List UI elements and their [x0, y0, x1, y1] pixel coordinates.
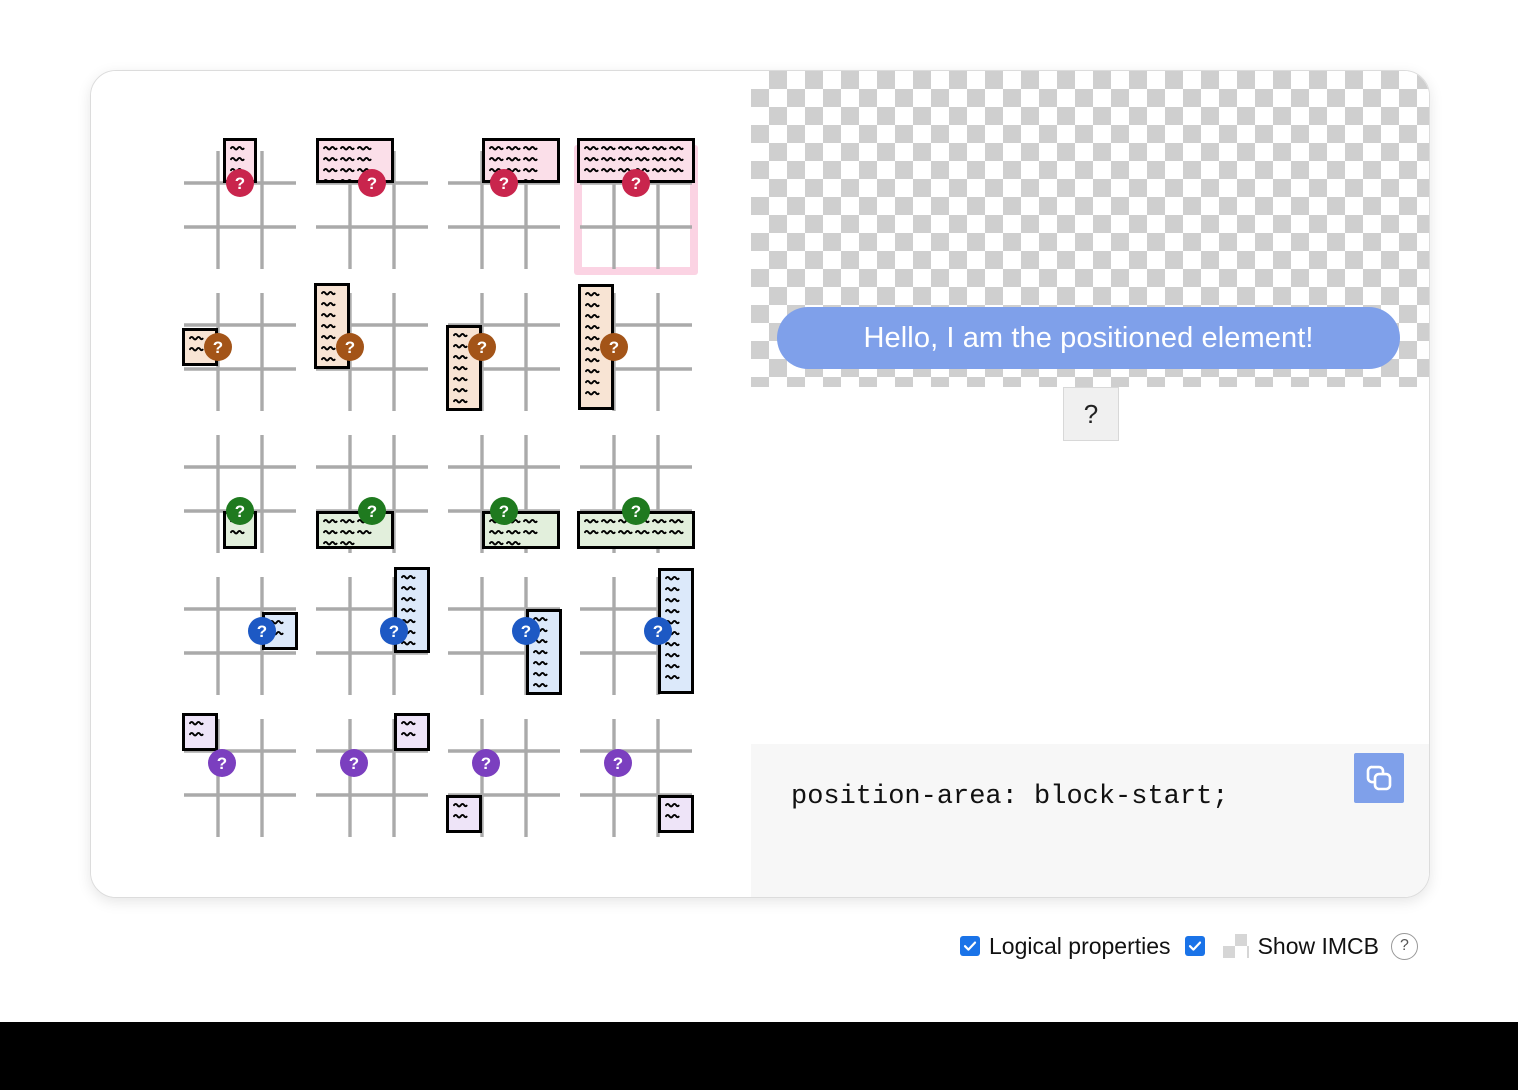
text-squiggle-icon: [584, 529, 599, 538]
check-icon: [1188, 939, 1202, 953]
anchor-question-marker: ?: [644, 617, 672, 645]
imcb-checker-swatch: [1223, 934, 1249, 958]
copy-icon: [1364, 763, 1394, 793]
anchor-question-marker: ?: [600, 333, 628, 361]
text-squiggle-icon: [665, 641, 680, 650]
text-squiggle-icon: [584, 156, 599, 165]
position-area-option[interactable]: ?: [164, 281, 296, 423]
text-squiggle-icon: [601, 518, 616, 527]
text-squiggle-icon: [453, 343, 468, 352]
text-squiggle-icon: [585, 357, 600, 366]
anchor-question-marker: ?: [468, 333, 496, 361]
text-squiggle-icon: [323, 178, 338, 183]
logical-properties-checkbox[interactable]: [960, 936, 980, 956]
anchor-question-marker: ?: [622, 497, 650, 525]
anchor-question-marker: ?: [490, 497, 518, 525]
text-squiggle-icon: [357, 529, 372, 538]
position-area-option[interactable]: ?: [296, 565, 428, 707]
text-squiggle-icon: [533, 660, 548, 669]
copy-icon-button[interactable]: [1354, 753, 1404, 803]
show-imcb-label: Show IMCB: [1258, 933, 1379, 960]
text-squiggle-icon: [321, 301, 336, 310]
text-squiggle-icon: [323, 540, 338, 549]
text-squiggle-icon: [321, 345, 336, 354]
text-squiggle-icon: [489, 156, 504, 165]
position-area-option[interactable]: ?: [560, 565, 692, 707]
text-squiggle-icon: [189, 346, 204, 355]
text-squiggle-icon: [652, 518, 667, 527]
anchor-question-marker: ?: [472, 749, 500, 777]
position-area-picker-pane: ????????????????????: [91, 71, 751, 897]
text-squiggle-icon: [340, 540, 355, 549]
anchor-question-marker: ?: [512, 617, 540, 645]
text-squiggle-icon: [453, 813, 468, 822]
position-area-option[interactable]: ?: [560, 281, 692, 423]
text-squiggle-icon: [635, 529, 650, 538]
text-squiggle-icon: [533, 671, 548, 680]
text-squiggle-icon: [401, 607, 416, 616]
position-area-option[interactable]: ?: [428, 281, 560, 423]
text-squiggle-icon: [585, 291, 600, 300]
show-imcb-checkbox[interactable]: [1185, 936, 1205, 956]
text-squiggle-icon: [321, 323, 336, 332]
preview-pane: Hello, I am the positioned element! ? po…: [751, 71, 1429, 897]
text-squiggle-icon: [523, 518, 538, 527]
text-squiggle-icon: [357, 156, 372, 165]
text-squiggle-icon: [489, 529, 504, 538]
text-squiggle-icon: [652, 156, 667, 165]
text-squiggle-icon: [585, 313, 600, 322]
text-squiggle-icon: [230, 156, 245, 165]
position-area-option[interactable]: ?: [296, 281, 428, 423]
text-squiggle-icon: [357, 145, 372, 154]
page-bottom-strip: [0, 1022, 1518, 1090]
position-area-option[interactable]: ?: [560, 423, 692, 565]
position-area-option[interactable]: ?: [296, 707, 428, 849]
text-squiggle-icon: [401, 720, 416, 729]
text-squiggle-icon: [585, 379, 600, 388]
text-squiggle-icon: [401, 731, 416, 740]
text-squiggle-icon: [189, 335, 204, 344]
position-area-option[interactable]: ?: [428, 707, 560, 849]
text-squiggle-icon: [585, 368, 600, 377]
imcb-checkerboard: Hello, I am the positioned element!: [751, 71, 1429, 387]
text-squiggle-icon: [665, 586, 680, 595]
positioned-box-preview: [394, 713, 430, 751]
text-squiggle-icon: [340, 167, 355, 176]
text-squiggle-icon: [584, 145, 599, 154]
text-squiggle-icon: [489, 145, 504, 154]
anchor-question-marker: ?: [604, 749, 632, 777]
text-squiggle-icon: [401, 596, 416, 605]
text-squiggle-icon: [523, 145, 538, 154]
text-squiggle-icon: [453, 332, 468, 341]
text-squiggle-icon: [323, 167, 338, 176]
text-squiggle-icon: [669, 518, 684, 527]
positioned-element-bubble[interactable]: Hello, I am the positioned element!: [777, 307, 1400, 369]
text-squiggle-icon: [669, 529, 684, 538]
position-area-option[interactable]: ?: [164, 139, 296, 281]
text-squiggle-icon: [533, 649, 548, 658]
text-squiggle-icon: [618, 529, 633, 538]
text-squiggle-icon: [189, 720, 204, 729]
text-squiggle-icon: [523, 178, 538, 183]
text-squiggle-icon: [453, 802, 468, 811]
text-squiggle-icon: [401, 585, 416, 594]
text-squiggle-icon: [453, 376, 468, 385]
anchor-question-marker: ?: [340, 749, 368, 777]
text-squiggle-icon: [665, 663, 680, 672]
logical-properties-control[interactable]: Logical properties: [960, 933, 1171, 960]
text-squiggle-icon: [665, 652, 680, 661]
text-squiggle-icon: [453, 365, 468, 374]
text-squiggle-icon: [401, 574, 416, 583]
text-squiggle-icon: [230, 529, 245, 538]
text-squiggle-icon: [340, 145, 355, 154]
position-area-option[interactable]: ?: [428, 565, 560, 707]
text-squiggle-icon: [321, 290, 336, 299]
text-squiggle-icon: [506, 540, 521, 549]
text-squiggle-icon: [652, 529, 667, 538]
text-squiggle-icon: [321, 334, 336, 343]
text-squiggle-icon: [453, 354, 468, 363]
text-squiggle-icon: [584, 518, 599, 527]
text-squiggle-icon: [585, 302, 600, 311]
text-squiggle-icon: [506, 156, 521, 165]
anchor-question-marker: ?: [336, 333, 364, 361]
positioned-box-preview: [182, 713, 218, 751]
controls-bar: Logical properties Show IMCB ?: [0, 916, 1518, 976]
text-squiggle-icon: [523, 156, 538, 165]
text-squiggle-icon: [523, 167, 538, 176]
text-squiggle-icon: [635, 156, 650, 165]
text-squiggle-icon: [585, 335, 600, 344]
positioned-box-preview: [658, 795, 694, 833]
text-squiggle-icon: [665, 674, 680, 683]
text-squiggle-icon: [189, 731, 204, 740]
anchor-question-marker: ?: [208, 749, 236, 777]
demo-card: ???????????????????? Hello, I am the pos…: [90, 70, 1430, 898]
text-squiggle-icon: [669, 167, 684, 176]
position-area-option[interactable]: ?: [428, 423, 560, 565]
help-icon[interactable]: ?: [1391, 933, 1418, 960]
text-squiggle-icon: [321, 356, 336, 365]
text-squiggle-icon: [665, 802, 680, 811]
code-text: position-area: block-start;: [791, 782, 1228, 812]
text-squiggle-icon: [584, 167, 599, 176]
check-icon: [963, 939, 977, 953]
text-squiggle-icon: [340, 178, 355, 183]
position-area-option[interactable]: ?: [296, 423, 428, 565]
text-squiggle-icon: [665, 813, 680, 822]
anchor-question-marker: ?: [226, 497, 254, 525]
text-squiggle-icon: [506, 529, 521, 538]
text-squiggle-icon: [340, 518, 355, 527]
text-squiggle-icon: [669, 145, 684, 154]
text-squiggle-icon: [523, 529, 538, 538]
position-area-option[interactable]: ?: [164, 423, 296, 565]
text-squiggle-icon: [506, 145, 521, 154]
text-squiggle-icon: [453, 387, 468, 396]
position-area-option[interactable]: ?: [560, 707, 692, 849]
text-squiggle-icon: [340, 156, 355, 165]
text-squiggle-icon: [323, 156, 338, 165]
anchor-element[interactable]: ?: [1063, 387, 1119, 441]
text-squiggle-icon: [321, 312, 336, 321]
text-squiggle-icon: [585, 346, 600, 355]
anchor-question-marker: ?: [490, 169, 518, 197]
text-squiggle-icon: [340, 529, 355, 538]
text-squiggle-icon: [533, 682, 548, 691]
anchor-question-marker: ?: [204, 333, 232, 361]
position-area-option[interactable]: ?: [296, 139, 428, 281]
position-area-option[interactable]: ?: [164, 707, 296, 849]
logical-properties-label: Logical properties: [989, 933, 1171, 960]
anchor-question-marker: ?: [380, 617, 408, 645]
text-squiggle-icon: [323, 145, 338, 154]
anchor-question-marker: ?: [248, 617, 276, 645]
text-squiggle-icon: [601, 167, 616, 176]
text-squiggle-icon: [652, 167, 667, 176]
anchor-question-marker: ?: [622, 169, 650, 197]
text-squiggle-icon: [323, 529, 338, 538]
text-squiggle-icon: [618, 145, 633, 154]
text-squiggle-icon: [635, 145, 650, 154]
text-squiggle-icon: [601, 145, 616, 154]
positioned-box-preview: [446, 795, 482, 833]
text-squiggle-icon: [601, 156, 616, 165]
text-squiggle-icon: [601, 529, 616, 538]
show-imcb-control[interactable]: Show IMCB: [1185, 933, 1379, 960]
text-squiggle-icon: [230, 145, 245, 154]
text-squiggle-icon: [453, 398, 468, 407]
text-squiggle-icon: [652, 145, 667, 154]
text-squiggle-icon: [618, 156, 633, 165]
text-squiggle-icon: [669, 156, 684, 165]
text-squiggle-icon: [489, 540, 504, 549]
position-area-option[interactable]: ?: [164, 565, 296, 707]
text-squiggle-icon: [585, 324, 600, 333]
position-area-grid: ????????????????????: [164, 139, 692, 849]
position-area-option[interactable]: ?: [428, 139, 560, 281]
text-squiggle-icon: [665, 597, 680, 606]
position-area-option[interactable]: ?: [560, 139, 692, 281]
text-squiggle-icon: [585, 390, 600, 399]
anchor-question-marker: ?: [358, 169, 386, 197]
text-squiggle-icon: [665, 575, 680, 584]
anchor-question-marker: ?: [226, 169, 254, 197]
text-squiggle-icon: [665, 608, 680, 617]
text-squiggle-icon: [323, 518, 338, 527]
code-output-panel: position-area: block-start;: [751, 744, 1429, 897]
anchor-question-marker: ?: [358, 497, 386, 525]
